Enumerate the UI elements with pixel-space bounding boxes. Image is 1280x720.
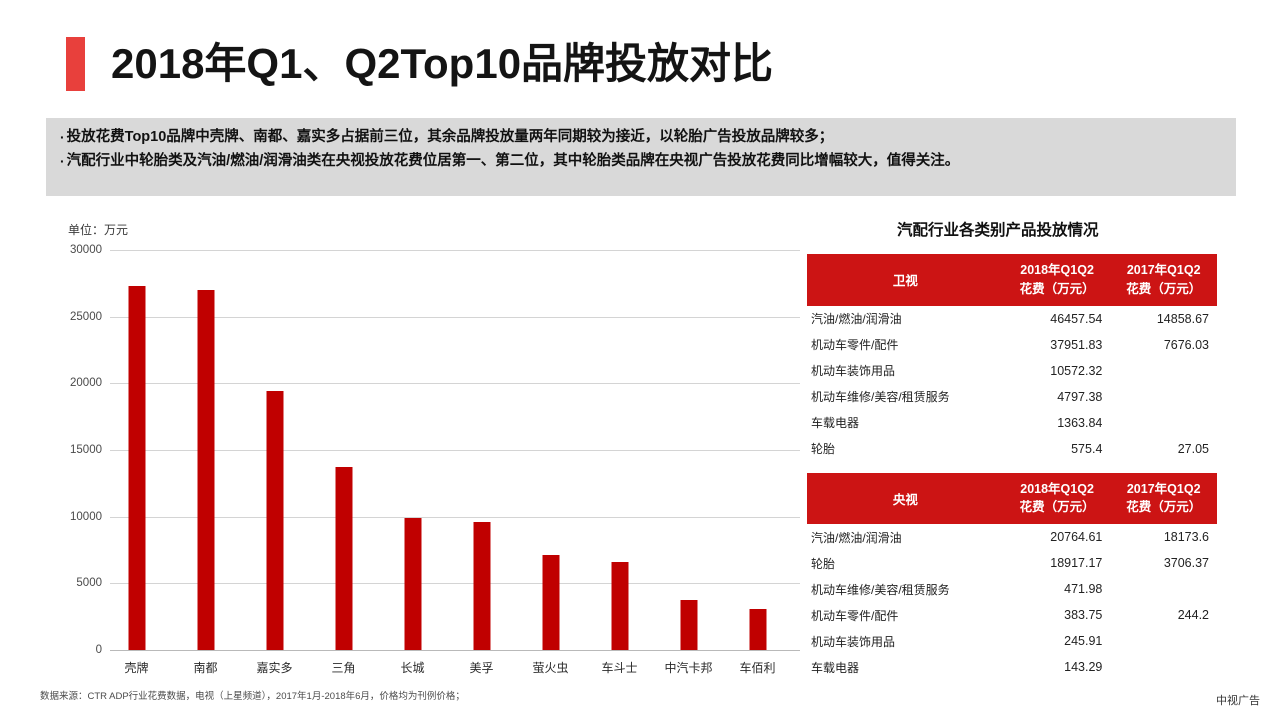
table-cell-value-2018: 143.29 [1004, 654, 1111, 680]
satellite-channel-header: 卫视 [807, 254, 1004, 306]
chart-y-tick-label: 5000 [76, 577, 102, 589]
table-cell-category: 机动车维修/美容/租赁服务 [807, 576, 1004, 602]
table-row: 汽油/燃油/润滑油20764.6118173.6 [807, 524, 1217, 550]
chart-x-tick-label: 中汽卡邦 [664, 659, 712, 676]
table-cell-value-2018: 471.98 [1004, 576, 1111, 602]
col-header-2017-line2: 花费（万元） [1114, 498, 1213, 517]
table-row: 机动车维修/美容/租赁服务471.98 [807, 576, 1217, 602]
table-cell-value-2017: 3706.37 [1110, 550, 1217, 576]
table-cell-category: 汽油/燃油/润滑油 [807, 524, 1004, 550]
chart-bar[interactable] [473, 522, 490, 650]
title-row: 2018年Q1、Q2Top10品牌投放对比 [0, 28, 1280, 100]
chart-y-tick-label: 20000 [70, 377, 102, 389]
table-row: 汽油/燃油/润滑油46457.5414858.67 [807, 306, 1217, 332]
table-cell-category: 车载电器 [807, 410, 1004, 436]
table-row: 车载电器1363.84 [807, 410, 1217, 436]
chart-y-tick-label: 15000 [70, 444, 102, 456]
table-cell-category: 车载电器 [807, 654, 1004, 680]
chart-bar[interactable] [404, 518, 421, 650]
summary-bullet-1-text: 投放花费Top10品牌中壳牌、南都、嘉实多占据前三位，其余品牌投放量两年同期较为… [67, 127, 834, 149]
table-cell-value-2017: 14858.67 [1110, 306, 1217, 332]
chart-bar[interactable] [266, 391, 283, 650]
table-cell-category: 机动车零件/配件 [807, 332, 1004, 358]
table-row: 机动车维修/美容/租赁服务4797.38 [807, 384, 1217, 410]
table-row: 机动车装饰用品10572.32 [807, 358, 1217, 384]
chart-plot-wrapper: 050001000015000200002500030000壳牌南都嘉实多三角长… [110, 250, 800, 650]
cctv-channel-header: 央视 [807, 473, 1004, 525]
table-header-row: 央视 2018年Q1Q2 花费（万元） 2017年Q1Q2 花费（万元） [807, 473, 1217, 525]
table-header-row: 卫视 2018年Q1Q2 花费（万元） 2017年Q1Q2 花费（万元） [807, 254, 1217, 306]
table-cell-value-2017 [1110, 654, 1217, 680]
table-cell-category: 机动车装饰用品 [807, 358, 1004, 384]
col-header-2017-line2: 花费（万元） [1114, 280, 1213, 299]
chart-bar[interactable] [128, 286, 145, 650]
col-header-2018: 2018年Q1Q2 花费（万元） [1004, 473, 1111, 525]
table-cell-value-2017 [1110, 576, 1217, 602]
table-cell-value-2017: 244.2 [1110, 602, 1217, 628]
chart-bar[interactable] [542, 555, 559, 650]
col-header-2017: 2017年Q1Q2 花费（万元） [1110, 473, 1217, 525]
summary-bullet-1: · 投放花费Top10品牌中壳牌、南都、嘉实多占据前三位，其余品牌投放量两年同期… [60, 127, 1222, 149]
table-cell-value-2017 [1110, 628, 1217, 654]
table-cell-value-2017: 27.05 [1110, 436, 1217, 462]
table-row: 机动车零件/配件37951.837676.03 [807, 332, 1217, 358]
chart-y-tick-label: 25000 [70, 311, 102, 323]
table-cell-value-2018: 46457.54 [1004, 306, 1111, 332]
table-cell-value-2018: 37951.83 [1004, 332, 1111, 358]
chart-x-tick-label: 美孚 [469, 659, 493, 676]
chart-x-tick-label: 三角 [331, 659, 355, 676]
table-cell-value-2018: 1363.84 [1004, 410, 1111, 436]
chart-bar[interactable] [749, 609, 766, 650]
table-cell-category: 汽油/燃油/润滑油 [807, 306, 1004, 332]
chart-bar[interactable] [611, 562, 628, 650]
bar-chart-panel: 单位：万元 050001000015000200002500030000壳牌南都… [46, 208, 806, 678]
summary-bullet-2-text: 汽配行业中轮胎类及汽油/燃油/润滑油类在央视投放花费位居第一、第二位，其中轮胎类… [67, 151, 960, 173]
title-accent-bar [66, 37, 85, 91]
chart-y-tick-label: 10000 [70, 511, 102, 523]
chart-gridline [110, 650, 800, 651]
chart-bar[interactable] [680, 600, 697, 650]
chart-plot-area: 050001000015000200002500030000壳牌南都嘉实多三角长… [110, 250, 800, 650]
chart-y-tick-label: 0 [96, 644, 102, 656]
table-cell-value-2018: 245.91 [1004, 628, 1111, 654]
table-cell-value-2017 [1110, 410, 1217, 436]
satellite-spend-table: 卫视 2018年Q1Q2 花费（万元） 2017年Q1Q2 花费（万元） 汽油/… [807, 254, 1217, 462]
chart-x-tick-label: 长城 [400, 659, 424, 676]
table-cell-value-2018: 18917.17 [1004, 550, 1111, 576]
col-header-2018-line2: 花费（万元） [1008, 498, 1107, 517]
col-header-2017: 2017年Q1Q2 花费（万元） [1110, 254, 1217, 306]
tables-panel: 汽配行业各类别产品投放情况 卫视 2018年Q1Q2 花费（万元） 2017年Q… [807, 218, 1217, 691]
chart-bar[interactable] [335, 467, 352, 650]
table-cell-category: 轮胎 [807, 550, 1004, 576]
chart-x-tick-label: 壳牌 [124, 659, 148, 676]
table-row: 轮胎575.427.05 [807, 436, 1217, 462]
footer-brand-label: 中视广告 [1216, 692, 1260, 708]
table-cell-value-2018: 383.75 [1004, 602, 1111, 628]
col-header-2018-line2: 花费（万元） [1008, 280, 1107, 299]
table-cell-value-2018: 4797.38 [1004, 384, 1111, 410]
table-cell-value-2018: 10572.32 [1004, 358, 1111, 384]
table-cell-category: 轮胎 [807, 436, 1004, 462]
table-cell-category: 机动车装饰用品 [807, 628, 1004, 654]
chart-x-tick-label: 车佰利 [739, 659, 775, 676]
summary-box: · 投放花费Top10品牌中壳牌、南都、嘉实多占据前三位，其余品牌投放量两年同期… [46, 118, 1236, 196]
chart-bar[interactable] [197, 290, 214, 650]
table-cell-category: 机动车维修/美容/租赁服务 [807, 384, 1004, 410]
chart-x-tick-label: 嘉实多 [256, 659, 292, 676]
table-row: 机动车装饰用品245.91 [807, 628, 1217, 654]
chart-gridline [110, 250, 800, 251]
satellite-table-body: 汽油/燃油/润滑油46457.5414858.67机动车零件/配件37951.8… [807, 306, 1217, 462]
col-header-2018: 2018年Q1Q2 花费（万元） [1004, 254, 1111, 306]
page-title: 2018年Q1、Q2Top10品牌投放对比 [111, 42, 773, 86]
table-row: 车载电器143.29 [807, 654, 1217, 680]
table-cell-value-2017: 7676.03 [1110, 332, 1217, 358]
col-header-2018-line1: 2018年Q1Q2 [1020, 482, 1094, 496]
cctv-table-body: 汽油/燃油/润滑油20764.6118173.6轮胎18917.173706.3… [807, 524, 1217, 680]
table-cell-value-2018: 575.4 [1004, 436, 1111, 462]
table-cell-value-2017 [1110, 358, 1217, 384]
table-cell-value-2017: 18173.6 [1110, 524, 1217, 550]
tables-heading: 汽配行业各类别产品投放情况 [897, 218, 1217, 240]
bullet-dot-icon: · [60, 151, 65, 172]
table-cell-category: 机动车零件/配件 [807, 602, 1004, 628]
col-header-2018-line1: 2018年Q1Q2 [1020, 263, 1094, 277]
table-cell-value-2018: 20764.61 [1004, 524, 1111, 550]
chart-x-tick-label: 南都 [193, 659, 217, 676]
table-row: 机动车零件/配件383.75244.2 [807, 602, 1217, 628]
chart-x-tick-label: 萤火虫 [532, 659, 568, 676]
chart-y-tick-label: 30000 [70, 244, 102, 256]
chart-x-tick-label: 车斗士 [601, 659, 637, 676]
table-cell-value-2017 [1110, 384, 1217, 410]
summary-bullet-2: · 汽配行业中轮胎类及汽油/燃油/润滑油类在央视投放花费位居第一、第二位，其中轮… [60, 151, 1222, 173]
bullet-dot-icon: · [60, 127, 65, 148]
footer-source-note: 数据来源：CTR ADP行业花费数据，电视（上星频道），2017年1月-2018… [40, 688, 465, 702]
table-row: 轮胎18917.173706.37 [807, 550, 1217, 576]
chart-unit-label: 单位：万元 [68, 221, 128, 238]
col-header-2017-line1: 2017年Q1Q2 [1127, 263, 1201, 277]
cctv-spend-table: 央视 2018年Q1Q2 花费（万元） 2017年Q1Q2 花费（万元） 汽油/… [807, 473, 1217, 681]
col-header-2017-line1: 2017年Q1Q2 [1127, 482, 1201, 496]
